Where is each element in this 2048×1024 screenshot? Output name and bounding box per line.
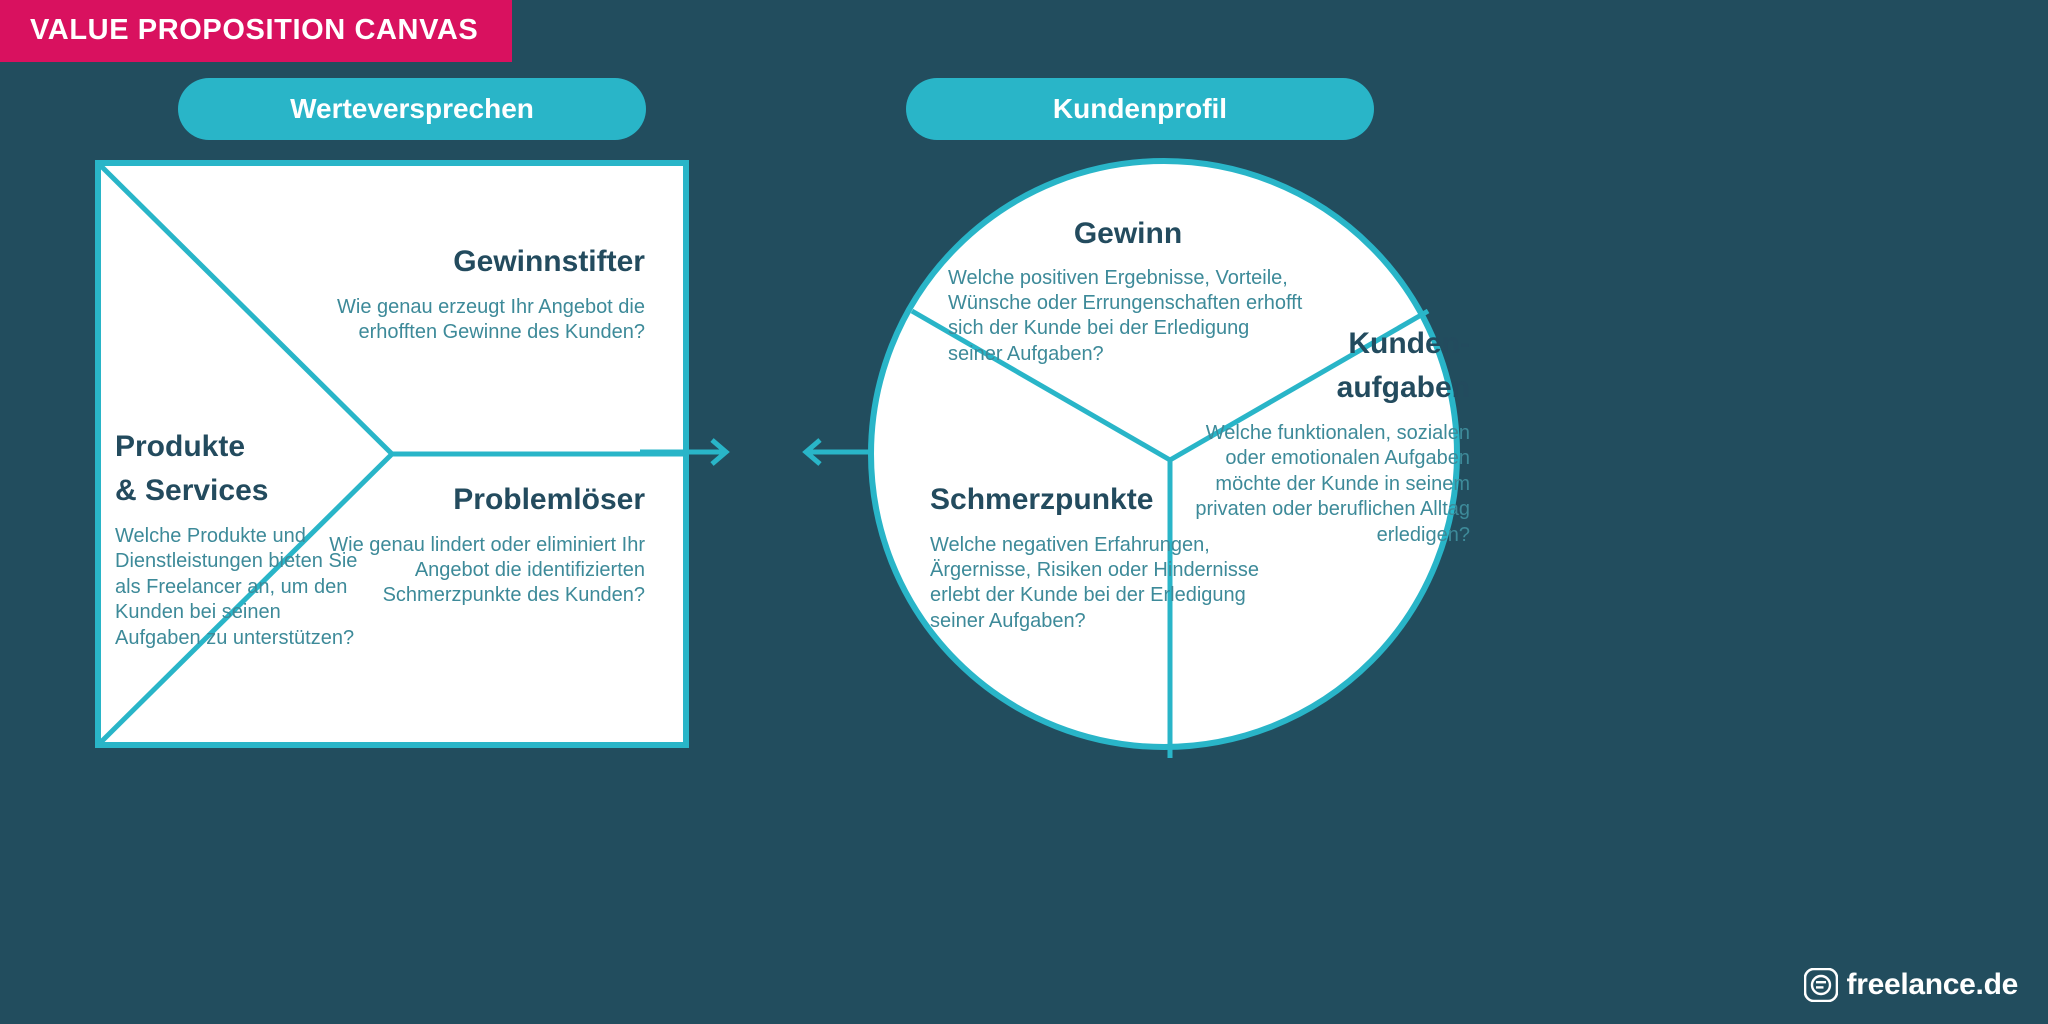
block-produkte-title-line1: Produkte	[115, 425, 365, 469]
block-schmerzpunkte-title: Schmerzpunkte	[930, 478, 1260, 522]
section-header-kundenprofil: Kundenprofil	[906, 78, 1374, 140]
block-kundenaufgaben-title: Kunden- aufgaben	[1190, 322, 1470, 409]
block-problemloeser: Problemlöser Wie genau lindert oder elim…	[300, 478, 645, 609]
block-gewinnstifter-title: Gewinnstifter	[300, 240, 645, 284]
section-header-right-label: Kundenprofil	[1053, 93, 1227, 125]
block-schmerzpunkte: Schmerzpunkte Welche negativen Erfahrung…	[930, 478, 1260, 634]
logo-wordmark: freelance.de	[1847, 968, 2019, 1002]
block-kundenaufgaben-title-line1: Kunden-	[1190, 322, 1470, 366]
block-problemloeser-title: Problemlöser	[300, 478, 645, 522]
banner-title: VALUE PROPOSITION CANVAS	[30, 14, 478, 47]
block-gewinnstifter: Gewinnstifter Wie genau erzeugt Ihr Ange…	[300, 240, 645, 345]
block-kundenaufgaben-title-line2: aufgaben	[1190, 366, 1470, 410]
freelance-logo-icon	[1804, 968, 1838, 1002]
section-header-werteversprechen: Werteversprechen	[178, 78, 646, 140]
block-gewinnstifter-body: Wie genau erzeugt Ihr Angebot die erhoff…	[300, 295, 645, 346]
block-schmerzpunkte-body: Welche negativen Erfahrungen, Ärgernisse…	[930, 533, 1260, 635]
freelance-de-logo: freelance.de	[1804, 968, 2019, 1002]
arrow-right-icon	[640, 432, 732, 472]
section-header-left-label: Werteversprechen	[290, 93, 534, 125]
block-problemloeser-body: Wie genau lindert oder eliminiert Ihr An…	[300, 533, 645, 609]
value-proposition-canvas-banner: VALUE PROPOSITION CANVAS	[0, 0, 512, 62]
block-gewinn-title: Gewinn	[948, 212, 1308, 256]
